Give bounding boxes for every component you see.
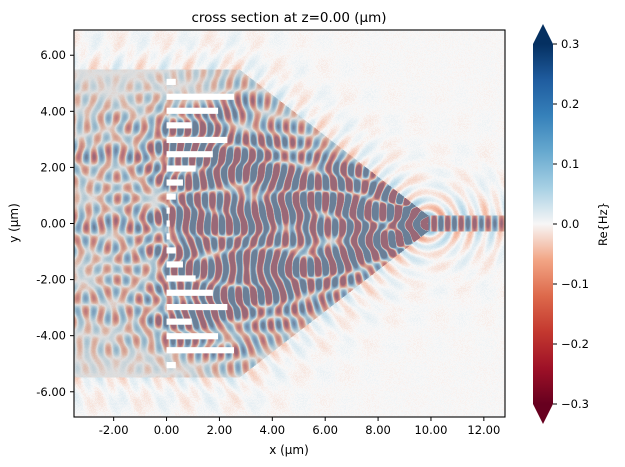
- x-tick-label: 8.00: [365, 423, 391, 437]
- colorbar-tick-label: −0.3: [561, 397, 589, 411]
- x-tick-label: -2.00: [99, 423, 129, 437]
- heatmap-raster: [74, 30, 505, 417]
- y-tick-label: -4.00: [36, 329, 66, 343]
- page-title: cross section at z=0.00 (µm): [191, 10, 386, 26]
- colorbar-tick-label: 0.0: [561, 217, 579, 231]
- colorbar-tick-label: −0.2: [561, 337, 589, 351]
- colorbar-gradient[interactable]: [533, 44, 553, 404]
- y-tick-label: 4.00: [40, 104, 66, 118]
- figure-canvas: cross section at z=0.00 (µm) -2.000.002.…: [0, 0, 625, 467]
- y-tick-label: 6.00: [40, 48, 66, 62]
- x-tick-label: 0.00: [154, 423, 180, 437]
- y-tick-label: 0.00: [40, 217, 66, 231]
- x-axis-label: x (µm): [269, 443, 309, 457]
- x-tick-label: 2.00: [207, 423, 233, 437]
- colorbar-label: Re{Hz}: [596, 202, 610, 246]
- y-tick-label: 2.00: [40, 160, 66, 174]
- colorbar-tick-label: −0.1: [561, 277, 589, 291]
- x-tick-label: 4.00: [260, 423, 286, 437]
- field-image: [74, 30, 505, 417]
- colorbar-tick-label: 0.1: [561, 157, 579, 171]
- x-tick-label: 10.00: [414, 423, 447, 437]
- colorbar-tick-label: 0.2: [561, 97, 579, 111]
- y-tick-label: -6.00: [36, 385, 66, 399]
- y-axis-label: y (µm): [7, 203, 21, 243]
- y-tick-label: -2.00: [36, 273, 66, 287]
- colorbar-tick-label: 0.3: [561, 37, 579, 51]
- x-tick-label: 12.00: [467, 423, 500, 437]
- x-tick-label: 6.00: [312, 423, 338, 437]
- plot-svg: cross section at z=0.00 (µm) -2.000.002.…: [0, 0, 625, 467]
